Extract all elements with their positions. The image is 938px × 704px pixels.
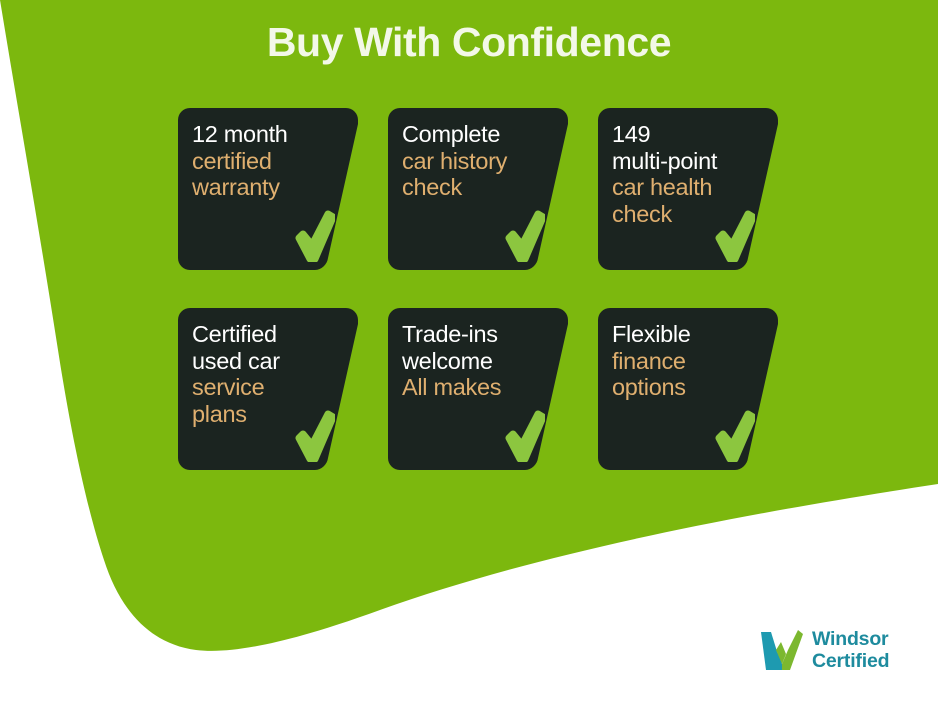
page-title: Buy With Confidence: [0, 19, 938, 66]
card-line: check: [402, 174, 568, 201]
feature-card-trade-ins[interactable]: Trade-ins welcome All makes: [388, 308, 568, 470]
card-line: certified: [192, 148, 358, 175]
check-icon: [715, 210, 755, 262]
feature-card-flexible-finance[interactable]: Flexible finance options: [598, 308, 778, 470]
check-icon: [295, 210, 335, 262]
check-icon: [295, 410, 335, 462]
brand-logo[interactable]: Windsor Certified: [758, 628, 889, 672]
card-line: 149: [612, 121, 778, 148]
card-line: finance: [612, 348, 778, 375]
feature-card-certified-warranty[interactable]: 12 month certified warranty: [178, 108, 358, 270]
windsor-w-icon: [758, 628, 805, 672]
logo-line-windsor: Windsor: [812, 628, 889, 650]
logo-line-certified: Certified: [812, 650, 889, 672]
card-line: service: [192, 374, 358, 401]
card-line: All makes: [402, 374, 568, 401]
card-line: Flexible: [612, 321, 778, 348]
feature-cards-grid: 12 month certified warranty Complete car…: [178, 108, 778, 508]
feature-cards-row-1: 12 month certified warranty Complete car…: [178, 108, 778, 270]
card-line: car health: [612, 174, 778, 201]
card-line: warranty: [192, 174, 358, 201]
card-line: welcome: [402, 348, 568, 375]
check-icon: [505, 410, 545, 462]
feature-card-multi-point-health-check[interactable]: 149 multi-point car health check: [598, 108, 778, 270]
card-line: Trade-ins: [402, 321, 568, 348]
card-line: options: [612, 374, 778, 401]
feature-cards-row-2: Certified used car service plans Trade-i…: [178, 308, 778, 470]
feature-card-car-history-check[interactable]: Complete car history check: [388, 108, 568, 270]
check-icon: [505, 210, 545, 262]
card-line: multi-point: [612, 148, 778, 175]
card-line: Complete: [402, 121, 568, 148]
logo-wordmark: Windsor Certified: [812, 628, 889, 672]
feature-card-service-plans[interactable]: Certified used car service plans: [178, 308, 358, 470]
card-line: Certified: [192, 321, 358, 348]
card-line: car history: [402, 148, 568, 175]
card-line: 12 month: [192, 121, 358, 148]
check-icon: [715, 410, 755, 462]
card-line: used car: [192, 348, 358, 375]
